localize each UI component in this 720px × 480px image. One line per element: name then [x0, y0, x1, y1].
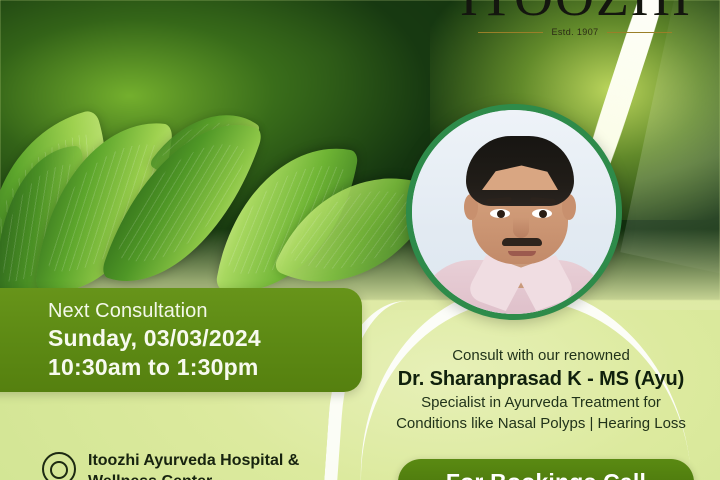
logo-rule-right	[607, 32, 672, 33]
photo-mouth	[508, 251, 536, 256]
consultation-time: 10:30am to 1:30pm	[48, 353, 348, 382]
logo-rule-left	[478, 32, 543, 33]
photo-hair	[466, 136, 574, 206]
consultation-panel: Next Consultation Sunday, 03/03/2024 10:…	[0, 288, 362, 392]
doctor-portrait	[406, 104, 622, 320]
logo-established-text: Estd. 1907	[551, 27, 598, 37]
brand-logo: ITOOZHI Estd. 1907	[460, 0, 690, 37]
bookings-call-label: For Bookings Call	[446, 469, 646, 480]
doctor-info-block: Consult with our renowned Dr. Sharanpras…	[362, 346, 720, 434]
consultation-heading: Next Consultation	[48, 298, 348, 324]
hospital-footer: Itoozhi Ayurveda Hospital & Wellness Cen…	[42, 450, 362, 480]
promotional-poster: ITOOZHI Estd. 1907	[0, 0, 720, 480]
doctor-specialty-line2: Conditions like Nasal Polyps | Hearing L…	[362, 413, 720, 434]
photo-nose	[513, 218, 529, 238]
logo-established-row: Estd. 1907	[460, 27, 690, 37]
consultation-date: Sunday, 03/03/2024	[48, 324, 348, 353]
location-pin-icon	[42, 452, 76, 480]
photo-moustache	[502, 238, 542, 246]
doctor-specialty-line1: Specialist in Ayurveda Treatment for	[362, 392, 720, 413]
consultation-panel-text: Next Consultation Sunday, 03/03/2024 10:…	[48, 298, 348, 382]
photo-pupil-right	[539, 210, 547, 218]
pin-inner-circle	[50, 461, 68, 479]
doctor-name: Dr. Sharanprasad K - MS (Ayu)	[362, 366, 720, 392]
doctor-photo	[412, 110, 616, 314]
logo-wordmark: ITOOZHI	[460, 0, 690, 24]
photo-pupil-left	[497, 210, 505, 218]
doctor-intro: Consult with our renowned	[362, 346, 720, 366]
bookings-call-button[interactable]: For Bookings Call	[398, 459, 694, 480]
hospital-name: Itoozhi Ayurveda Hospital & Wellness Cen…	[88, 450, 362, 480]
